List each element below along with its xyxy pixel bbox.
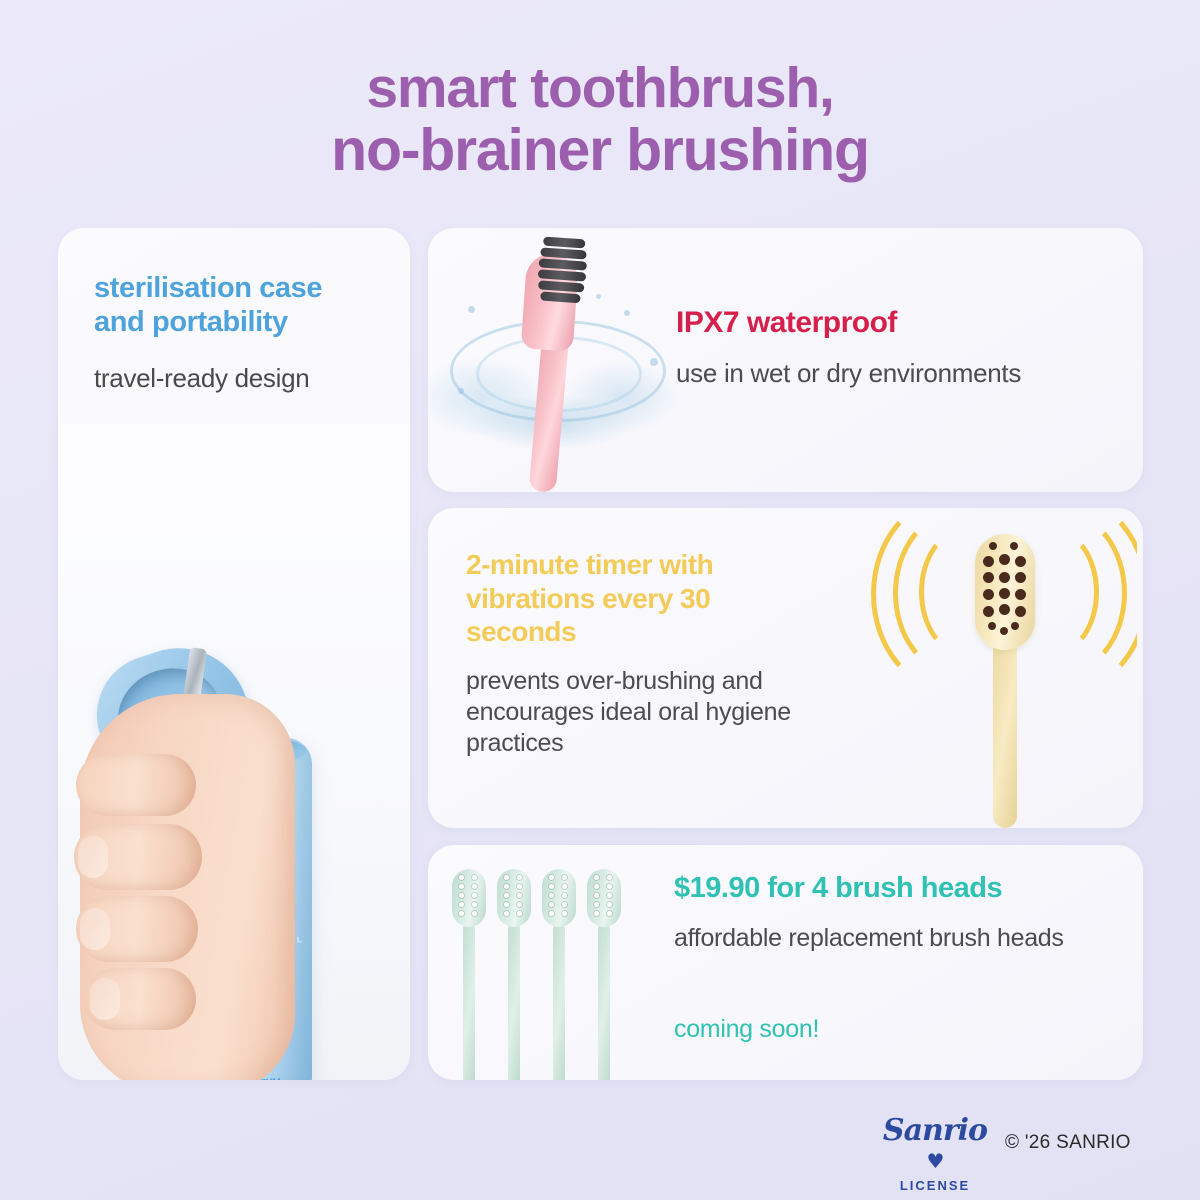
brush-heads-note: coming soon! (674, 1015, 819, 1044)
feature-card-waterproof: IPX7 waterproof use in wet or dry enviro… (428, 228, 1143, 492)
finger (74, 824, 202, 890)
yellow-brush-head (975, 534, 1035, 650)
promo-graphic: smart toothbrush, no-brainer brushing st… (0, 0, 1200, 1200)
waterproof-title: IPX7 waterproof (676, 306, 897, 340)
timer-body: prevents over-brushing and encourages id… (466, 666, 836, 759)
feature-card-sterilisation: sterilisation case and portability trave… (58, 228, 410, 1080)
water-droplet (468, 306, 475, 313)
sterilisation-title: sterilisation case and portability (94, 272, 394, 339)
waterproof-photo (428, 228, 680, 492)
brush-heads-title: $19.90 for 4 brush heads (674, 872, 1002, 905)
sterilisation-title-line-1: sterilisation case (94, 272, 322, 304)
brush-heads-photo (438, 845, 668, 1080)
copyright-text: © '26 SANRIO (1005, 1132, 1131, 1154)
footer: Sanrio♥ LICENSE © '26 SANRIO (0, 1110, 1200, 1180)
sanrio-wordmark: Sanrio♥ (880, 1116, 990, 1176)
finger (76, 896, 198, 962)
sanrio-license-logo: Sanrio♥ LICENSE (880, 1116, 990, 1193)
brush-heads-body: affordable replacement brush heads (674, 923, 1074, 953)
water-droplet (624, 310, 630, 316)
feature-card-timer: 2-minute timer with vibrations every 30 … (428, 508, 1143, 828)
timer-photo (857, 508, 1137, 828)
timer-title: 2-minute timer with vibrations every 30 … (466, 548, 816, 649)
yellow-brush-handle (993, 638, 1017, 828)
finger (84, 968, 196, 1030)
water-droplet (596, 294, 601, 299)
sterilisation-subtitle: travel-ready design (94, 363, 404, 394)
page-title: smart toothbrush, no-brainer brushing (0, 58, 1200, 182)
water-droplet (650, 358, 658, 366)
waterproof-body: use in wet or dry environments (676, 358, 1116, 389)
charcoal-bristles-icon (535, 234, 590, 315)
sanrio-license-text: LICENSE (880, 1178, 990, 1193)
heart-icon: ♥ (927, 1151, 944, 1171)
sterilisation-case-photo: CINNAMOROLL (58, 424, 410, 1080)
finger (76, 754, 196, 816)
sterilisation-title-line-2: and portability (94, 306, 288, 338)
headline-line-2: no-brainer brushing (0, 119, 1200, 182)
water-droplet (458, 388, 464, 394)
feature-card-brush-heads: $19.90 for 4 brush heads affordable repl… (428, 845, 1143, 1080)
sanrio-word-text: Sanrio (883, 1113, 987, 1148)
headline-line-1: smart toothbrush, (366, 56, 833, 120)
hand-illustration: CINNAMOROLL (74, 634, 374, 1080)
